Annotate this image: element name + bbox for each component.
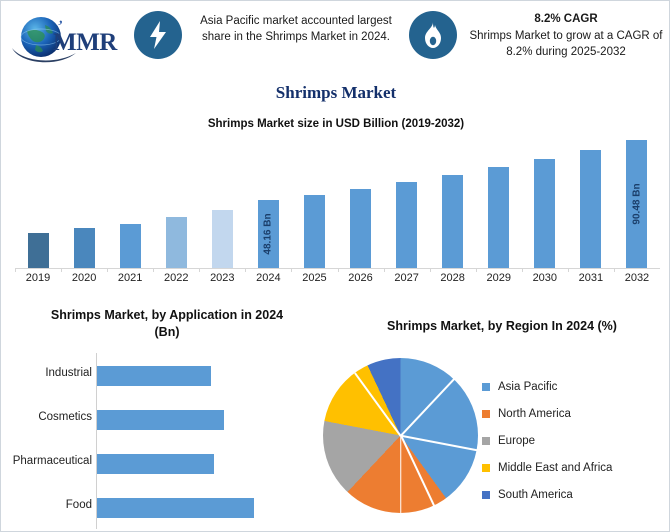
flame-glyph (422, 21, 444, 49)
column-axis-tickmark (153, 268, 154, 272)
column-bar-2031 (580, 134, 601, 268)
column-axis-tickmark (522, 268, 523, 272)
column-bar-fill (166, 217, 187, 268)
column-bar-fill (350, 189, 371, 268)
column-axis-tickmark (107, 268, 108, 272)
infographic-page: ’ MMR Asia Pacific market accounted larg… (0, 0, 670, 532)
company-logo: ’ MMR (9, 7, 129, 67)
legend-swatch-icon (482, 464, 490, 472)
application-row-bar (97, 410, 224, 430)
column-axis-tickmark (338, 268, 339, 272)
column-axis-tickmark (430, 268, 431, 272)
legend-label: North America (498, 408, 571, 420)
column-bar-fill (396, 182, 417, 268)
legend-label: Asia Pacific (498, 381, 557, 393)
column-axis-tick-2025: 2025 (291, 272, 337, 284)
application-row-bar (97, 454, 214, 474)
application-row-pharmaceutical: Pharmaceutical (7, 443, 327, 487)
application-row-industrial: Industrial (7, 355, 327, 399)
lightning-bolt-icon (134, 11, 182, 59)
region-chart-title: Shrimps Market, by Region In 2024 (%) (337, 319, 667, 333)
column-axis-tickmark (245, 268, 246, 272)
column-axis-tick-2024: 2024 (245, 272, 291, 284)
column-bar-value-label: 48.16 Bn (263, 213, 274, 254)
column-axis-tick-2031: 2031 (568, 272, 614, 284)
column-axis-tickmark (476, 268, 477, 272)
column-axis-tick-2030: 2030 (522, 272, 568, 284)
legend-item-asia-pacific[interactable]: Asia Pacific (482, 373, 667, 400)
column-chart-title: Shrimps Market size in USD Billion (2019… (1, 118, 670, 130)
column-axis-tickmark (384, 268, 385, 272)
column-axis-tick-2021: 2021 (107, 272, 153, 284)
column-axis-tick-2032: 2032 (614, 272, 660, 284)
column-bar-2027 (396, 134, 417, 268)
column-bar-fill (28, 233, 49, 268)
application-row-label: Food (0, 499, 92, 511)
column-bar-2023 (212, 134, 233, 268)
legend-item-north-america[interactable]: North America (482, 400, 667, 427)
column-axis-tick-2022: 2022 (153, 272, 199, 284)
column-axis-tick-2020: 2020 (61, 272, 107, 284)
column-axis-tick-2026: 2026 (338, 272, 384, 284)
legend-swatch-icon (482, 491, 490, 499)
column-bar-fill (534, 159, 555, 268)
application-row-bar (97, 498, 254, 518)
header-left-text: Asia Pacific market accounted largest sh… (191, 13, 401, 45)
legend-item-south-america[interactable]: South America (482, 481, 667, 508)
column-bar-2024: 48.16 Bn (258, 134, 279, 268)
column-bar-2026 (350, 134, 371, 268)
pie-slice-separator (400, 436, 402, 514)
column-bar-2030 (534, 134, 555, 268)
column-axis-tick-2027: 2027 (384, 272, 430, 284)
column-bar-fill (580, 150, 601, 268)
lightning-bolt-glyph (145, 20, 171, 50)
application-row-label: Cosmetics (0, 411, 92, 423)
column-bar-2019 (28, 134, 49, 268)
legend-swatch-icon (482, 383, 490, 391)
column-bar-2028 (442, 134, 463, 268)
column-bar-2025 (304, 134, 325, 268)
application-chart-title-line1: Shrimps Market, by Application in 2024 (7, 307, 327, 324)
column-bar-fill: 48.16 Bn (258, 200, 279, 268)
column-axis-tick-2028: 2028 (430, 272, 476, 284)
legend-label: Europe (498, 435, 535, 447)
column-bar-fill (304, 195, 325, 268)
column-axis-tickmark (199, 268, 200, 272)
column-axis-tickmark (568, 268, 569, 272)
legend-label: South America (498, 489, 573, 501)
column-bar-fill (442, 175, 463, 268)
column-axis-tick-2023: 2023 (199, 272, 245, 284)
column-chart-plot: 48.16 Bn90.48 Bn (15, 134, 660, 268)
logo-text: MMR (53, 29, 117, 57)
region-pie-chart (323, 358, 478, 513)
column-bar-value-label: 90.48 Bn (631, 183, 642, 224)
column-bar-fill (120, 224, 141, 268)
column-bar-fill: 90.48 Bn (626, 140, 647, 268)
header-right-text: 8.2% CAGR Shrimps Market to grow at a CA… (463, 11, 669, 60)
header-right-heading: 8.2% CAGR (463, 11, 669, 27)
region-pie-legend: Asia PacificNorth AmericaEuropeMiddle Ea… (482, 373, 667, 508)
application-row-food: Food (7, 487, 327, 531)
header-banner: ’ MMR Asia Pacific market accounted larg… (1, 1, 670, 73)
column-axis-tickmark (291, 268, 292, 272)
legend-item-middle-east-and-africa[interactable]: Middle East and Africa (482, 454, 667, 481)
column-bar-fill (488, 167, 509, 268)
legend-swatch-icon (482, 437, 490, 445)
column-chart: 48.16 Bn90.48 Bn 20192020202120222023202… (15, 134, 660, 294)
page-title: Shrimps Market (1, 83, 670, 103)
column-axis-tickmark (15, 268, 16, 272)
column-bar-2022 (166, 134, 187, 268)
column-bar-2029 (488, 134, 509, 268)
application-row-label: Pharmaceutical (0, 455, 92, 467)
legend-label: Middle East and Africa (498, 462, 612, 474)
application-row-cosmetics: Cosmetics (7, 399, 327, 443)
column-axis-tickmark (614, 268, 615, 272)
legend-swatch-icon (482, 410, 490, 418)
application-chart-title: Shrimps Market, by Application in 2024 (… (7, 307, 327, 341)
application-chart: IndustrialCosmeticsPharmaceuticalFood (7, 353, 327, 531)
column-bar-fill (212, 210, 233, 268)
column-bar-2032: 90.48 Bn (626, 134, 647, 268)
column-bar-fill (74, 228, 95, 268)
column-axis-tick-2019: 2019 (15, 272, 61, 284)
column-axis-tick-2029: 2029 (476, 272, 522, 284)
application-chart-title-line2: (Bn) (7, 324, 327, 341)
application-row-bar (97, 366, 211, 386)
flame-icon (409, 11, 457, 59)
column-bar-2021 (120, 134, 141, 268)
column-bar-2020 (74, 134, 95, 268)
header-right-body: Shrimps Market to grow at a CAGR of 8.2%… (469, 30, 662, 58)
column-axis-tickmark (61, 268, 62, 272)
application-row-label: Industrial (0, 367, 92, 379)
legend-item-europe[interactable]: Europe (482, 427, 667, 454)
